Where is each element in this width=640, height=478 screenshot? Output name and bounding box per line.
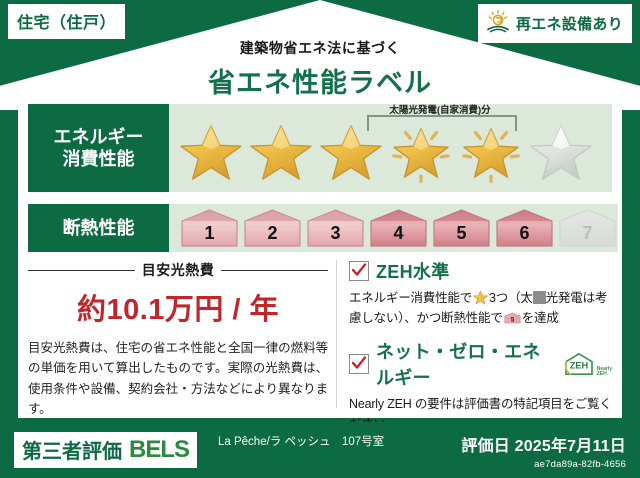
bels-logo-en: BELS	[129, 436, 189, 464]
zeh-logo-text: ZEH	[569, 361, 588, 371]
redacted-character	[533, 291, 546, 304]
utility-cost-value: 約10.1万円 / 年	[28, 286, 328, 328]
star-icon	[390, 123, 452, 183]
insulation-level-number: 3	[305, 223, 366, 244]
star-icon	[320, 123, 382, 183]
rule-right	[221, 270, 328, 271]
star-icon	[460, 123, 522, 183]
insulation-level-5: 5	[431, 208, 492, 248]
star-icon	[250, 123, 312, 183]
insulation-level-number: 5	[431, 223, 492, 244]
bels-energy-label: 住宅（住戸） 再エネ設備あり 建築物省エネ法に基づく 省エネ性能ラベル	[0, 0, 640, 478]
bels-logo-jp: 第三者評価	[22, 435, 122, 464]
net-zero-energy-heading: ネット・ゼロ・エネルギー ZEH Nearly ZEH	[349, 338, 612, 390]
evaluation-date: 評価日 2025年7月11日	[461, 432, 626, 456]
insulation-level-7: 7	[557, 208, 618, 248]
utility-cost-heading: 目安光熱費	[28, 260, 328, 280]
zeh-standard-title: ZEH水準	[376, 258, 450, 284]
zeh-column: ZEH水準 エネルギー消費性能で3つ（太光発電は考慮しない）、かつ断熱性能で5を…	[349, 258, 612, 410]
renewable-energy-badge-label: 再エネ設備あり	[516, 13, 623, 34]
zeh-logo-sub2: ZEH	[597, 372, 612, 377]
star-icon	[180, 123, 242, 183]
insulation-level-6: 6	[494, 208, 555, 248]
sun-renewable-icon	[485, 8, 511, 39]
solar-caption: 太陽光発電(自家消費)分	[365, 102, 515, 116]
rule-left	[28, 270, 135, 271]
checkbox-checked-icon	[349, 261, 369, 281]
utility-cost-heading-label: 目安光熱費	[142, 260, 215, 280]
energy-performance-row: エネルギー 消費性能 太陽光発電(自家消費)分	[28, 104, 612, 192]
net-zero-energy-title: ネット・ゼロ・エネルギー	[376, 338, 552, 390]
insulation-level-3: 3	[305, 208, 366, 248]
detail-columns: 目安光熱費 約10.1万円 / 年 目安光熱費は、住宅の省エネ性能と全国一律の燃…	[28, 258, 612, 410]
solar-bracket	[367, 115, 517, 131]
insulation-level-number: 7	[557, 223, 618, 244]
utility-cost-note: 目安光熱費は、住宅の省エネ性能と全国一律の燃料等の単価を用いて算出したものです。…	[28, 338, 328, 419]
evaluation-id: ae7da89a-82fb-4656	[461, 459, 626, 470]
label-footer: 第三者評価 BELS La Pêche/ラ ペッシュ 107号室 評価日 202…	[0, 422, 640, 478]
evaluation-info: 評価日 2025年7月11日 ae7da89a-82fb-4656	[461, 432, 626, 470]
checkbox-checked-icon	[349, 354, 369, 374]
energy-star-panel: 太陽光発電(自家消費)分	[169, 104, 612, 192]
insulation-level-panel: 1 2 3	[169, 204, 618, 252]
energy-performance-label: エネルギー 消費性能	[28, 104, 169, 192]
zeh-standard-text: エネルギー消費性能で3つ（太光発電は考慮しない）、かつ断熱性能で5を達成	[349, 288, 612, 328]
insulation-level-number: 1	[179, 223, 240, 244]
star-1	[177, 120, 245, 186]
insulation-level-number: 2	[242, 223, 303, 244]
insulation-level-scale: 1 2 3	[179, 208, 618, 248]
zeh-standard-heading: ZEH水準	[349, 258, 612, 284]
page-title: 省エネ性能ラベル	[0, 61, 640, 100]
insulation-performance-label: 断熱性能	[28, 204, 169, 252]
column-divider	[336, 260, 337, 408]
label-title-block: 建築物省エネ法に基づく 省エネ性能ラベル	[0, 38, 640, 100]
insulation-level-4: 4	[368, 208, 429, 248]
zeh-house-logo: ZEH Nearly ZEH	[563, 351, 612, 377]
renewable-energy-badge: 再エネ設備あり	[478, 4, 632, 43]
insulation-level-number: 6	[494, 223, 555, 244]
star-6-empty	[527, 120, 595, 186]
utility-cost-column: 目安光熱費 約10.1万円 / 年 目安光熱費は、住宅の省エネ性能と全国一律の燃…	[28, 258, 328, 410]
insulation-level-2: 2	[242, 208, 303, 248]
star-icon	[530, 123, 592, 183]
insulation-performance-row: 断熱性能	[28, 204, 612, 252]
housing-type-badge: 住宅（住戸）	[8, 4, 125, 39]
star-2	[247, 120, 315, 186]
star-icon	[473, 290, 488, 305]
building-name: La Pêche/ラ ペッシュ 107号室	[218, 434, 468, 450]
bels-logo: 第三者評価 BELS	[14, 432, 197, 468]
insulation-level-1: 1	[179, 208, 240, 248]
insulation-level-number: 4	[368, 223, 429, 244]
inline-house-icon: 5	[504, 311, 521, 325]
